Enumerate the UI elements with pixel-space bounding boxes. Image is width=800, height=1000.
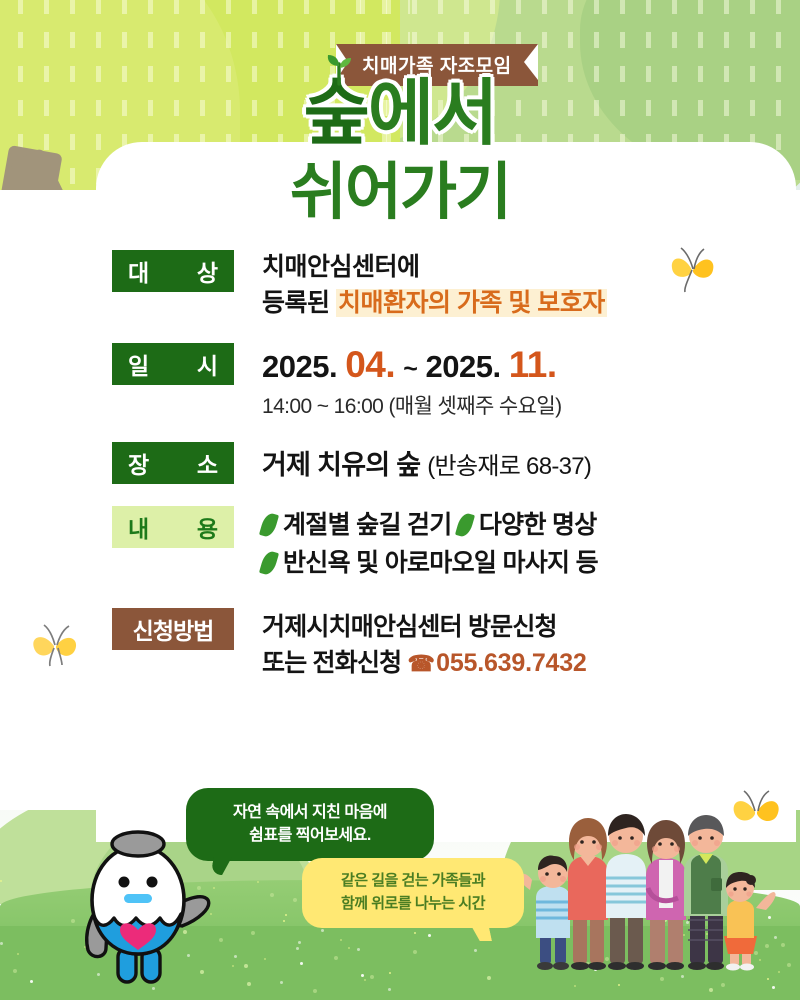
info-row-content: 내 용 계절별 숲길 걷기 다양한 명상 반신욕 및 아로마오일 마사지 등 — [0, 506, 800, 582]
info-label-datetime-char1: 일 — [128, 347, 149, 381]
speech-bubble-yellow: 같은 길을 걷는 가족들과 함께 위로를 나누는 시간 — [302, 858, 524, 928]
butterfly-icon-left — [24, 612, 86, 674]
date-month-2: 11. — [509, 344, 557, 385]
datetime-range: 2025. 04. ~ 2025. 11. — [262, 344, 800, 387]
title-word-soop: 숲 — [304, 74, 368, 154]
title-line-1: 숲에서 — [304, 78, 497, 150]
sprout-leaf-icon — [322, 52, 356, 86]
family-member-grandfather — [684, 815, 728, 970]
place-text: 거제 치유의 숲 (반송재로 68-37) — [262, 443, 800, 482]
mascot-character — [62, 808, 212, 988]
info-label-datetime-char2: 시 — [197, 347, 218, 381]
poster-root: 치매가족 자조모임 숲에서 쉬어가기 — [0, 0, 800, 1000]
family-member-boy — [519, 856, 570, 970]
target-line-2-highlight: 치매환자의 가족 및 보호자 — [336, 289, 607, 317]
content-line-1: 계절별 숲길 걷기 다양한 명상 — [262, 507, 800, 545]
family-member-woman — [646, 820, 686, 970]
apply-line-1: 거제시치매안심센터 방문신청 — [262, 609, 800, 645]
info-label-content: 내 용 — [112, 506, 234, 548]
bubble-yellow-line-2: 함께 위로를 나누는 시간 — [312, 893, 514, 916]
place-name: 거제 치유의 숲 — [262, 450, 420, 480]
info-value-place: 거제 치유의 숲 (반송재로 68-37) — [262, 442, 800, 482]
info-label-target-char1: 대 — [128, 254, 149, 288]
phone-icon: ☎ — [408, 648, 435, 680]
bubble-green-line-2: 쉼표를 찍어보세요. — [196, 824, 424, 847]
place-address: (반송재로 68-37) — [427, 453, 591, 480]
info-value-apply: 거제시치매안심센터 방문신청 또는 전화신청 ☎055.639.7432 — [262, 608, 800, 682]
family-member-father — [606, 814, 646, 970]
target-line-2-plain: 등록된 — [262, 289, 336, 317]
content-item-3: 반신욕 및 아로마오일 마사지 등 — [283, 549, 598, 577]
datetime-note: 14:00 ~ 16:00 (매월 셋째주 수요일) — [262, 390, 800, 420]
title-word-eseo: 에서 — [368, 74, 496, 154]
leaf-bullet-icon-1 — [259, 512, 279, 539]
info-row-datetime: 일 시 2025. 04. ~ 2025. 11. 14:00 ~ 16:00 … — [0, 343, 800, 421]
poster-title: 숲에서 쉬어가기 — [0, 78, 800, 224]
bubble-yellow-line-1: 같은 길을 걷는 가족들과 — [312, 870, 514, 893]
leaf-bullet-icon-2 — [455, 512, 475, 539]
family-member-girl — [724, 872, 776, 971]
leaf-bullet-icon-3 — [259, 549, 279, 576]
info-label-apply-text: 신청방법 — [133, 612, 214, 646]
info-row-apply: 신청방법 거제시치매안심센터 방문신청 또는 전화신청 ☎055.639.743… — [0, 608, 800, 682]
butterfly-icon-family — [726, 782, 786, 838]
apply-line-2-pre: 또는 전화신청 — [262, 649, 408, 677]
info-label-content-char1: 내 — [128, 510, 149, 544]
speech-bubble-green: 자연 속에서 지친 마음에 쉼표를 찍어보세요. — [186, 788, 434, 861]
info-value-content: 계절별 숲길 걷기 다양한 명상 반신욕 및 아로마오일 마사지 등 — [262, 506, 800, 582]
info-label-place-char1: 장 — [128, 446, 149, 480]
apply-phone-number: 055.639.7432 — [436, 649, 587, 677]
date-year-2: 2025. — [426, 349, 501, 384]
info-label-place: 장 소 — [112, 442, 234, 484]
info-label-datetime: 일 시 — [112, 343, 234, 385]
bubble-green-line-1: 자연 속에서 지친 마음에 — [196, 801, 424, 824]
info-label-target: 대 상 — [112, 250, 234, 292]
butterfly-icon-top-right — [664, 240, 720, 296]
info-row-place: 장 소 거제 치유의 숲 (반송재로 68-37) — [0, 442, 800, 484]
info-label-target-char2: 상 — [197, 254, 218, 288]
content-item-2: 다양한 명상 — [479, 511, 597, 539]
date-month-1: 04. — [345, 344, 395, 385]
info-rows: 대 상 치매안심센터에 등록된 치매환자의 가족 및 보호자 일 시 2025.… — [0, 250, 800, 704]
date-year-1: 2025. — [262, 349, 337, 384]
content-item-1: 계절별 숲길 걷기 — [283, 511, 452, 539]
info-label-apply: 신청방법 — [112, 608, 234, 650]
apply-line-2: 또는 전화신청 ☎055.639.7432 — [262, 645, 800, 681]
family-member-mother — [568, 818, 608, 970]
title-line-2: 쉬어가기 — [0, 162, 800, 224]
content-line-2: 반신욕 및 아로마오일 마사지 등 — [262, 545, 800, 583]
date-separator: ~ — [403, 355, 417, 383]
info-value-datetime: 2025. 04. ~ 2025. 11. 14:00 ~ 16:00 (매월 … — [262, 343, 800, 421]
info-label-place-char2: 소 — [197, 446, 218, 480]
info-label-content-char2: 용 — [197, 510, 218, 544]
